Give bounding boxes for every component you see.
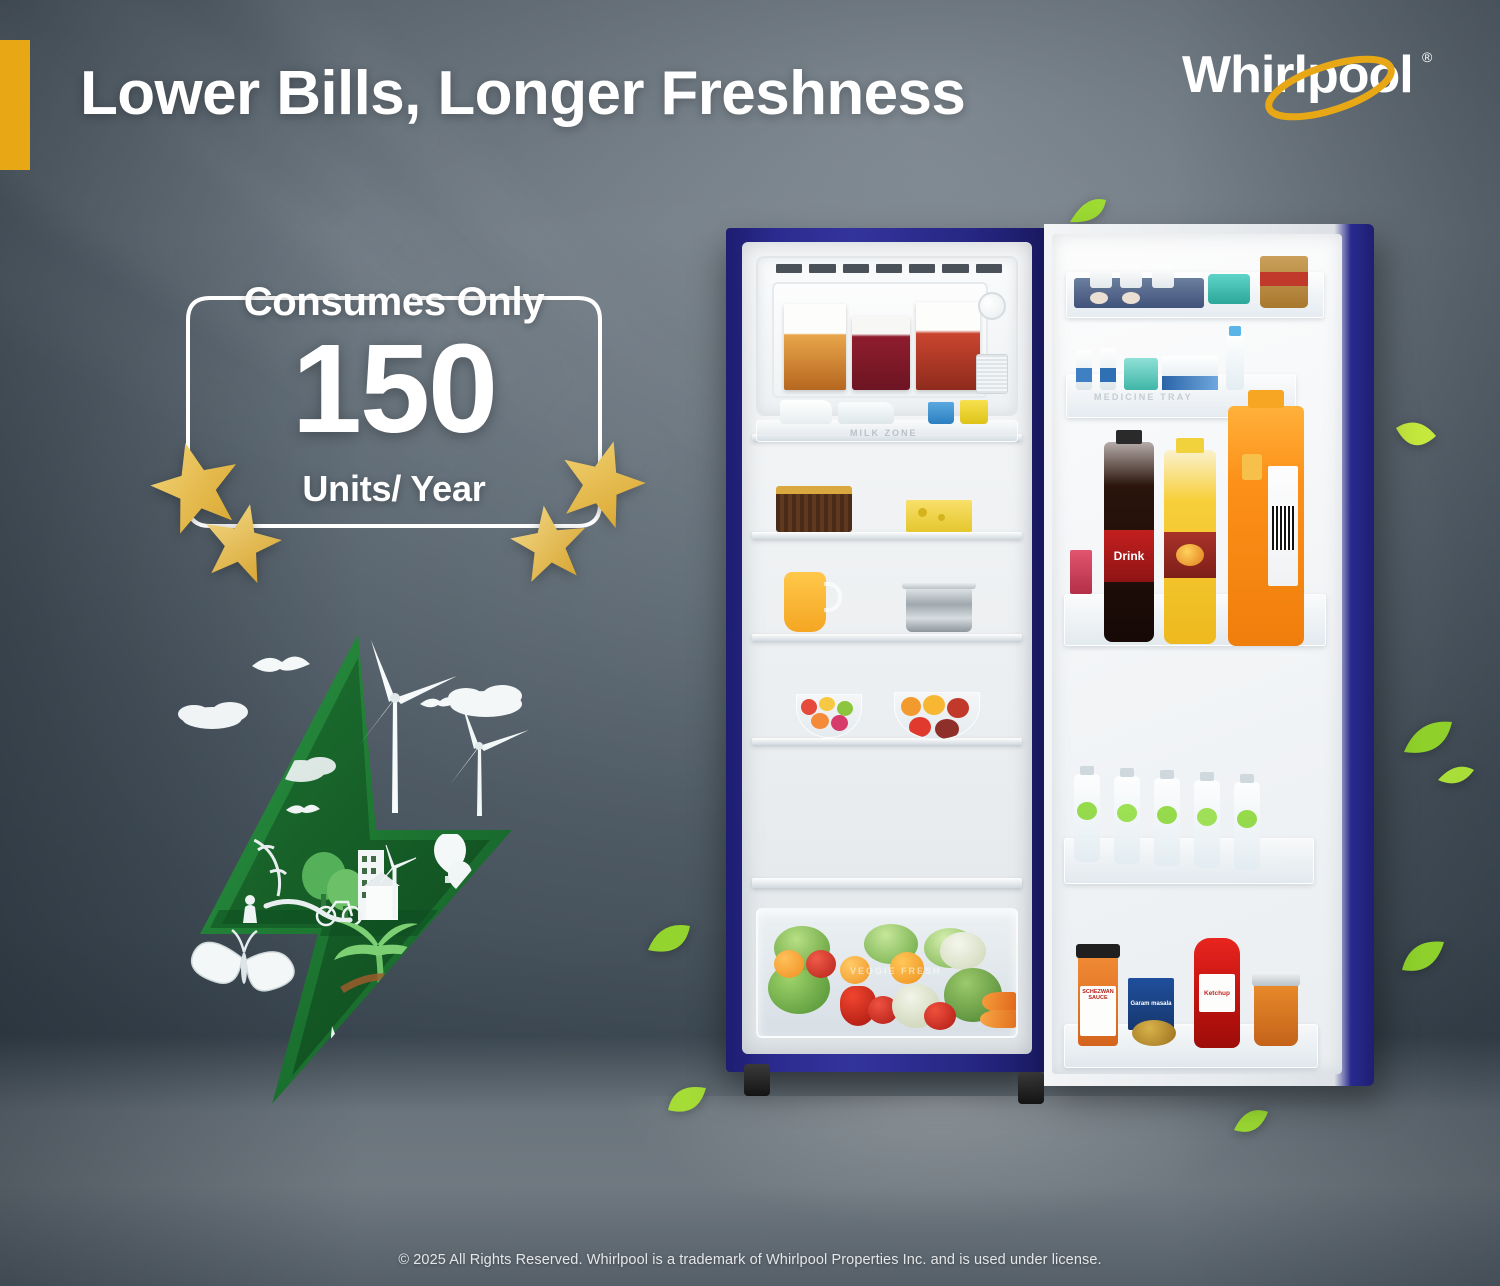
pitcher-handle bbox=[824, 582, 842, 612]
wind-turbine-icon bbox=[449, 700, 529, 816]
orange-juice-bottle bbox=[1228, 406, 1304, 646]
bottle-cap bbox=[1248, 390, 1284, 408]
badge-value: 150 bbox=[176, 326, 612, 452]
medicine-bottle bbox=[1100, 348, 1116, 390]
refrigerator-shelf bbox=[752, 738, 1022, 745]
butter-box bbox=[1152, 266, 1174, 288]
schezwan-sauce-jar: SCHEZWAN SAUCE bbox=[1078, 954, 1118, 1046]
refrigerator-shelf bbox=[752, 532, 1022, 539]
veggie-fresh-label: VEGGIE FRESH bbox=[850, 966, 942, 976]
tomato bbox=[806, 950, 836, 978]
refrigerator-shelf bbox=[752, 634, 1022, 641]
cola-label: Drink bbox=[1114, 549, 1145, 563]
fruit-bowl bbox=[894, 692, 980, 740]
medicine-box bbox=[1162, 356, 1218, 390]
cloud-icon bbox=[178, 702, 248, 729]
infused-water-bottle bbox=[1154, 778, 1180, 866]
eco-lightning-bolt-graphic bbox=[146, 628, 566, 1108]
chocolate-cake bbox=[776, 490, 852, 532]
cheese-hole bbox=[918, 508, 927, 517]
freezer-window bbox=[772, 282, 988, 398]
door-liner: MEDICINE TRAY Drink bbox=[1052, 234, 1342, 1074]
cake-topping bbox=[776, 486, 852, 494]
butterfly-icon bbox=[192, 930, 294, 991]
medicine-tray-label: MEDICINE TRAY bbox=[1094, 392, 1193, 402]
vent-grille-icon bbox=[976, 354, 1008, 394]
butter-box bbox=[1120, 266, 1142, 288]
orange bbox=[774, 950, 804, 978]
fridge-interior: MILK ZONE bbox=[742, 242, 1032, 1054]
medicine-box bbox=[1124, 358, 1158, 390]
mango-juice-bottle bbox=[1164, 450, 1216, 644]
ketchup-label: Ketchup bbox=[1204, 990, 1230, 997]
infused-water-bottle bbox=[1114, 776, 1140, 864]
frozen-meal-pack bbox=[784, 304, 846, 390]
infused-water-bottle bbox=[1074, 774, 1100, 862]
yogurt-cup bbox=[960, 400, 988, 424]
infused-water-bottle bbox=[1194, 780, 1220, 868]
energy-consumption-badge: Consumes Only 150 Units/ Year bbox=[176, 288, 612, 536]
copyright-footer: © 2025 All Rights Reserved. Whirlpool is… bbox=[0, 1252, 1500, 1268]
tomato bbox=[924, 1002, 956, 1030]
fridge-foot bbox=[744, 1064, 770, 1096]
thermostat-dial-icon[interactable] bbox=[978, 292, 1006, 320]
bird-icon bbox=[252, 656, 310, 671]
ice-cream-tub bbox=[852, 316, 910, 390]
masala-label: Garam masala bbox=[1130, 1001, 1171, 1007]
refrigerator-product-image: MILK ZONE bbox=[726, 228, 1386, 1100]
cheese-hole bbox=[938, 514, 945, 521]
cola-bottle: Drink bbox=[1104, 442, 1154, 642]
whirlpool-logo: Whirlpool ® bbox=[1182, 36, 1452, 128]
person-icon bbox=[243, 895, 257, 923]
yogurt-cup bbox=[928, 402, 954, 424]
cloud-icon bbox=[448, 685, 522, 717]
freezer-vents bbox=[776, 264, 1002, 273]
fridge-door[interactable]: MEDICINE TRAY Drink bbox=[1044, 224, 1374, 1086]
pot-lid bbox=[902, 582, 976, 589]
bottle-cap bbox=[1176, 438, 1204, 453]
cauliflower bbox=[940, 932, 986, 970]
carrot bbox=[982, 992, 1016, 1012]
bottle-cap bbox=[1116, 430, 1142, 444]
page-title: Lower Bills, Longer Freshness bbox=[80, 58, 1140, 129]
fern-icon bbox=[331, 1026, 361, 1108]
ketchup-bottle: Ketchup bbox=[1194, 938, 1240, 1048]
milk-carton bbox=[780, 400, 832, 424]
crisper-cover bbox=[752, 878, 1022, 888]
milk-zone-label: MILK ZONE bbox=[850, 428, 918, 438]
frozen-meal-pack bbox=[916, 302, 980, 390]
badge-unit-label: Units/ Year bbox=[176, 468, 612, 510]
schezwan-label: SCHEZWAN SAUCE bbox=[1080, 989, 1116, 1001]
butter-box bbox=[1090, 266, 1112, 288]
registered-trademark-icon: ® bbox=[1422, 49, 1433, 65]
fridge-foot bbox=[1018, 1072, 1044, 1104]
water-bottle-rack bbox=[1064, 838, 1314, 884]
crisper-drawer[interactable]: VEGGIE FRESH bbox=[756, 908, 1018, 1038]
juice-pitcher bbox=[784, 572, 826, 632]
soda-can bbox=[1070, 550, 1092, 594]
infused-water-bottle bbox=[1234, 782, 1260, 870]
steel-pot bbox=[906, 586, 972, 632]
pickle-jar bbox=[1260, 256, 1308, 308]
fruit-bowl bbox=[796, 694, 862, 738]
milk-carton bbox=[838, 402, 894, 424]
water-bottle bbox=[1226, 334, 1244, 390]
medicine-bottle bbox=[1076, 350, 1092, 390]
promo-banner: Lower Bills, Longer Freshness Whirlpool … bbox=[0, 0, 1500, 1286]
carrot bbox=[980, 1010, 1016, 1028]
curry-bowl bbox=[1132, 1020, 1176, 1046]
food-container bbox=[1208, 274, 1250, 304]
accent-bar bbox=[0, 40, 30, 170]
sauce-jar bbox=[1254, 982, 1298, 1046]
freezer-compartment bbox=[756, 256, 1018, 416]
